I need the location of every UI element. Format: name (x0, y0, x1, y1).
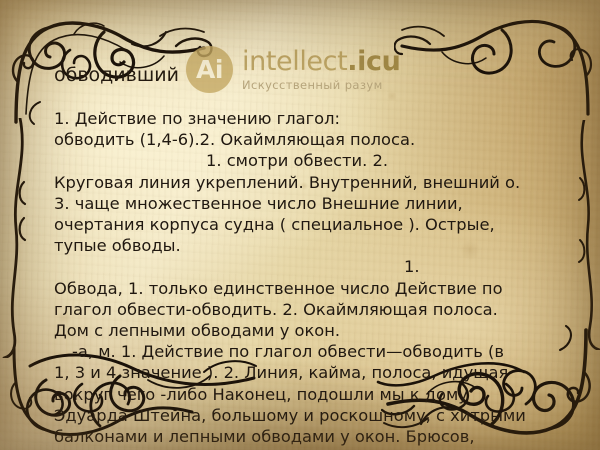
watermark: Ai intellect.icu Искусственный разум (186, 46, 400, 93)
definition-line: 1, 3 и 4 значение ). 2. Линия, кайма, по… (54, 362, 574, 383)
definition-line: 1. Действие по значению глагол: (54, 108, 574, 129)
watermark-brand-suffix: .icu (347, 46, 400, 77)
watermark-tagline: Искусственный разум (242, 80, 400, 92)
watermark-text: intellect.icu Искусственный разум (242, 48, 400, 92)
definition-line: балконами и лепными обводами у окон. Брю… (54, 426, 574, 447)
definition-line: Эдуарда Штейна, большому и роскошному, с… (54, 405, 574, 426)
presentation-slide: Ai intellect.icu Искусственный разум обв… (0, 0, 600, 450)
corner-flourish-top-right-icon (394, 8, 594, 120)
definition-line: Обвода, 1. только единственное число Дей… (54, 278, 574, 299)
definition-line: Круговая линия укреплений. Внутренний, в… (54, 172, 574, 193)
definition-line: вокруг чего -либо Наконец, подошли мы к … (54, 384, 574, 405)
definition-line: 3. чаще множественное число Внешние лини… (54, 193, 574, 214)
definition-line: очертания корпуса судна ( специальное ).… (54, 214, 574, 235)
definition-line: глагол обвести-обводить. 2. Окаймляющая … (54, 299, 574, 320)
definition-body: 1. Действие по значению глагол:обводить … (54, 108, 574, 450)
watermark-ai-badge-icon: Ai (186, 46, 233, 93)
definition-line: обводить (1,4-6).2. Окаймляющая полоса. (54, 129, 574, 150)
definition-line: 1. смотри обвести. 2. (54, 150, 574, 171)
definition-line: 1. (54, 256, 574, 277)
definition-line: -а, м. 1. Действие по глагол обвести—обв… (54, 341, 574, 362)
watermark-brand-main: intellect (242, 46, 347, 77)
definition-line: тупые обводы. (54, 235, 574, 256)
watermark-brand: intellect.icu (242, 48, 400, 75)
definition-line: Дом с лепными обводами у окон. (54, 320, 574, 341)
side-vine-left-icon (0, 118, 40, 358)
page-title: обводивший (54, 64, 179, 86)
